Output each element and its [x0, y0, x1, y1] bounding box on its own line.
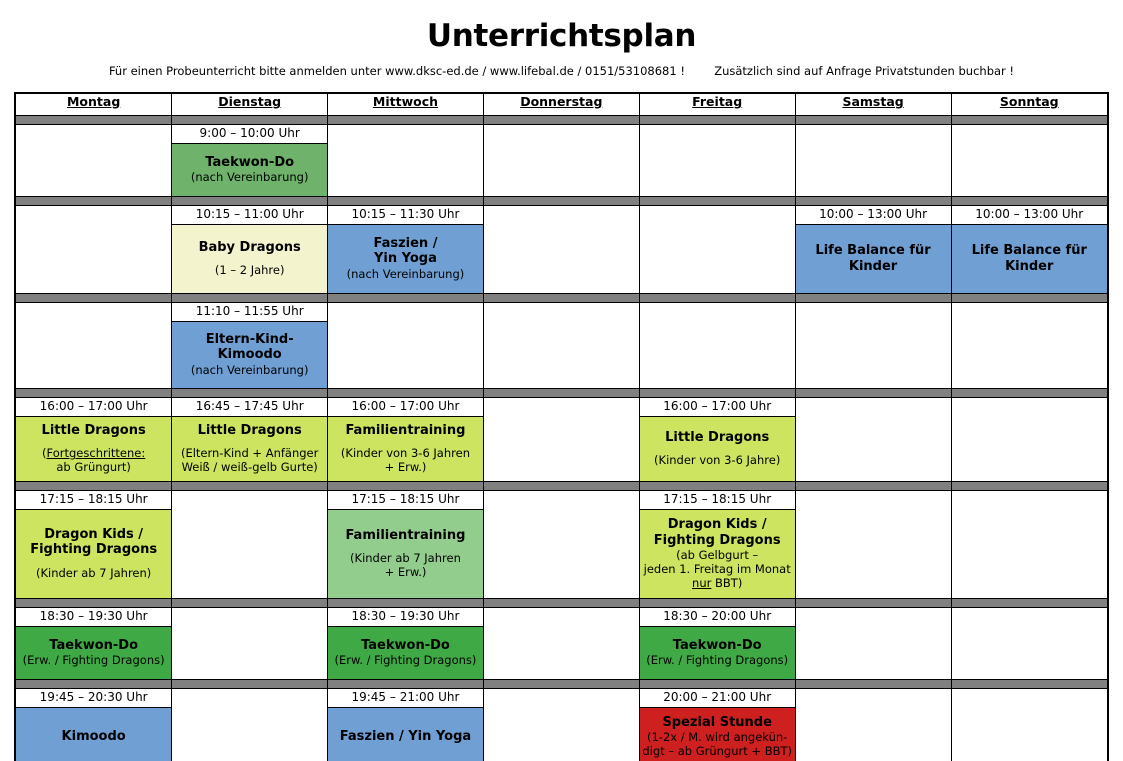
empty-slot-cell — [483, 303, 639, 389]
class-slot[interactable]: 17:15 – 18:15 UhrFamilientraining(Kinder… — [328, 491, 483, 598]
class-time: 19:45 – 20:30 Uhr — [16, 689, 171, 708]
class-slot[interactable]: 17:15 – 18:15 UhrDragon Kids /Fighting D… — [16, 491, 171, 598]
class-time: 20:00 – 21:00 Uhr — [640, 689, 795, 708]
class-slot-cell[interactable]: 17:15 – 18:15 UhrDragon Kids /Fighting D… — [639, 491, 795, 599]
empty-slot — [484, 303, 639, 388]
class-name-line: Eltern-Kind- — [206, 332, 294, 348]
class-note-line: + Erw.) — [341, 461, 470, 475]
class-note: (Erw. / Fighting Dragons) — [334, 654, 476, 668]
class-slot-cell[interactable]: 10:15 – 11:30 UhrFaszien /Yin Yoga(nach … — [328, 206, 484, 294]
class-note: (1-2x / M. wird angekün-digt – ab Grüngu… — [642, 731, 792, 759]
row-separator-cell — [328, 599, 484, 608]
row-separator-cell — [795, 197, 951, 206]
empty-slot — [640, 206, 795, 293]
class-slot-cell[interactable]: 10:00 – 13:00 UhrLife Balance fürKinder — [795, 206, 951, 294]
schedule-row: 18:30 – 19:30 UhrTaekwon-Do(Erw. / Fight… — [16, 608, 1107, 680]
class-name-line: Fighting Dragons — [30, 542, 157, 558]
underlined-text: Fortgeschrittene: — [47, 446, 146, 460]
class-title: Dragon Kids /Fighting Dragons — [654, 517, 781, 548]
row-separator-cell — [483, 116, 639, 125]
row-separator-cell — [795, 116, 951, 125]
class-body: Life Balance fürKinder — [796, 225, 951, 293]
row-separator-cell — [172, 294, 328, 303]
row-separator-cell — [328, 389, 484, 398]
empty-slot-cell — [483, 689, 639, 761]
day-header-label: Freitag — [692, 94, 742, 109]
day-header-montag: Montag — [16, 94, 172, 116]
row-separator-cell — [639, 116, 795, 125]
row-separator-cell — [483, 294, 639, 303]
class-name-line: Taekwon-Do — [673, 638, 762, 654]
empty-slot — [328, 303, 483, 388]
class-name-line: Dragon Kids / — [654, 517, 781, 533]
row-separator-cell — [483, 482, 639, 491]
row-separator-cell — [483, 599, 639, 608]
class-body: Little Dragons(Kinder von 3-6 Jahre) — [640, 417, 795, 481]
row-separator-cell — [951, 599, 1107, 608]
class-name-line: Little Dragons — [198, 423, 302, 439]
row-separator-cell — [639, 680, 795, 689]
class-note: (Kinder ab 7 Jahren) — [36, 567, 151, 581]
class-time: 16:00 – 17:00 Uhr — [640, 398, 795, 417]
class-note: (Erw. / Fighting Dragons) — [23, 654, 165, 668]
unterrichtsplan-page: Unterrichtsplan Für einen Probeunterrich… — [0, 18, 1123, 761]
row-separator-cell — [795, 599, 951, 608]
day-header-label: Mittwoch — [373, 94, 438, 109]
class-note: (Fortgeschrittene:ab Grüngurt) — [42, 447, 145, 475]
schedule-row: 16:00 – 17:00 UhrLittle Dragons(Fortgesc… — [16, 398, 1107, 482]
class-slot-cell[interactable]: 20:00 – 21:00 UhrSpezial Stunde(1-2x / M… — [639, 689, 795, 761]
class-title: Taekwon-Do — [205, 155, 294, 171]
empty-slot-cell — [795, 491, 951, 599]
class-time: 17:15 – 18:15 Uhr — [328, 491, 483, 510]
empty-slot-cell — [951, 398, 1107, 482]
row-separator-cell — [16, 116, 172, 125]
class-note-line: jeden 1. Freitag im Monat — [644, 563, 791, 577]
row-separator-cell — [483, 680, 639, 689]
class-time: 16:00 – 17:00 Uhr — [328, 398, 483, 417]
row-separator-cell — [328, 197, 484, 206]
class-name-line: Dragon Kids / — [30, 527, 157, 543]
class-title: Baby Dragons — [199, 240, 301, 256]
class-name-line: Taekwon-Do — [361, 638, 450, 654]
class-slot[interactable]: 19:45 – 21:00 UhrFaszien / Yin Yoga — [328, 689, 483, 761]
row-separator-cell — [16, 482, 172, 491]
empty-slot-cell — [795, 303, 951, 389]
class-slot[interactable]: 18:30 – 19:30 UhrTaekwon-Do(Erw. / Fight… — [16, 608, 171, 679]
empty-slot — [640, 303, 795, 388]
class-name-line: Life Balance für — [815, 243, 930, 259]
class-body: Little Dragons(Fortgeschrittene:ab Grüng… — [16, 417, 171, 481]
row-separator-cell — [172, 197, 328, 206]
class-name-line: Little Dragons — [42, 423, 146, 439]
empty-slot — [952, 125, 1107, 196]
class-body: Taekwon-Do(Erw. / Fighting Dragons) — [640, 627, 795, 679]
class-note-line: (Erw. / Fighting Dragons) — [646, 654, 788, 668]
class-time: 10:00 – 13:00 Uhr — [952, 206, 1107, 225]
class-time: 16:00 – 17:00 Uhr — [16, 398, 171, 417]
class-note-line: (Erw. / Fighting Dragons) — [334, 654, 476, 668]
row-separator-cell — [951, 482, 1107, 491]
class-time: 10:00 – 13:00 Uhr — [796, 206, 951, 225]
class-title: Familientraining — [345, 528, 465, 544]
class-slot[interactable]: 17:15 – 18:15 UhrDragon Kids /Fighting D… — [640, 491, 795, 598]
day-header-sonntag: Sonntag — [951, 94, 1107, 116]
class-body: Familientraining(Kinder von 3-6 Jahren+ … — [328, 417, 483, 481]
class-name-line: Fighting Dragons — [654, 533, 781, 549]
row-separator-cell — [16, 389, 172, 398]
class-title: Taekwon-Do — [361, 638, 450, 654]
class-slot-cell[interactable]: 18:30 – 20:00 UhrTaekwon-Do(Erw. / Fight… — [639, 608, 795, 680]
empty-slot-cell — [639, 125, 795, 197]
class-slot-cell[interactable]: 16:45 – 17:45 UhrLittle Dragons(Eltern-K… — [172, 398, 328, 482]
class-body: Kimoodo — [16, 708, 171, 761]
empty-slot — [640, 125, 795, 196]
empty-slot — [952, 303, 1107, 388]
class-title: Familientraining — [345, 423, 465, 439]
row-separator-cell — [795, 680, 951, 689]
schedule-row: 17:15 – 18:15 UhrDragon Kids /Fighting D… — [16, 491, 1107, 599]
class-title: Life Balance fürKinder — [815, 243, 930, 274]
empty-slot — [796, 689, 951, 761]
class-slot[interactable]: 10:15 – 11:00 UhrBaby Dragons(1 – 2 Jahr… — [172, 206, 327, 293]
empty-slot-cell — [951, 491, 1107, 599]
empty-slot — [796, 125, 951, 196]
row-separator-cell — [639, 482, 795, 491]
class-note-line: nur BBT) — [644, 577, 791, 591]
class-slot-cell[interactable]: 17:15 – 18:15 UhrDragon Kids /Fighting D… — [16, 491, 172, 599]
row-separator-cell — [328, 116, 484, 125]
schedule-table-wrapper: MontagDienstagMittwochDonnerstagFreitagS… — [14, 92, 1109, 761]
row-separator — [16, 482, 1107, 491]
class-slot[interactable]: 10:00 – 13:00 UhrLife Balance fürKinder — [796, 206, 951, 293]
class-note: (Eltern-Kind + AnfängerWeiß / weiß-gelb … — [181, 447, 318, 475]
row-separator-cell — [328, 482, 484, 491]
empty-slot — [16, 125, 171, 196]
empty-slot-cell — [639, 303, 795, 389]
row-separator-cell — [16, 599, 172, 608]
empty-slot-cell — [951, 125, 1107, 197]
row-separator-cell — [16, 680, 172, 689]
class-title: Kimoodo — [62, 729, 126, 745]
row-separator-cell — [639, 389, 795, 398]
class-time: 16:45 – 17:45 Uhr — [172, 398, 327, 417]
empty-slot — [484, 125, 639, 196]
class-title: Taekwon-Do — [673, 638, 762, 654]
class-name-line: Kinder — [815, 259, 930, 275]
class-body: Eltern-Kind-Kimoodo(nach Vereinbarung) — [172, 322, 327, 388]
row-separator — [16, 680, 1107, 689]
class-note-line: (1 – 2 Jahre) — [215, 264, 285, 278]
day-header-mittwoch: Mittwoch — [328, 94, 484, 116]
class-slot[interactable]: 16:45 – 17:45 UhrLittle Dragons(Eltern-K… — [172, 398, 327, 481]
class-slot-cell[interactable]: 19:45 – 20:30 UhrKimoodo — [16, 689, 172, 761]
underlined-text: nur — [692, 576, 711, 590]
class-note-line: (Kinder von 3-6 Jahre) — [654, 454, 780, 468]
row-separator-cell — [328, 294, 484, 303]
class-name-line: Kimoodo — [62, 729, 126, 745]
row-separator-cell — [483, 197, 639, 206]
empty-slot — [484, 689, 639, 761]
row-separator-cell — [951, 116, 1107, 125]
empty-slot-cell — [795, 689, 951, 761]
class-title: Faszien / Yin Yoga — [340, 729, 471, 745]
class-name-line: Faszien / — [373, 236, 437, 252]
row-separator — [16, 197, 1107, 206]
class-time: 10:15 – 11:00 Uhr — [172, 206, 327, 225]
class-body: Spezial Stunde(1-2x / M. wird angekün-di… — [640, 708, 795, 761]
class-note-line: + Erw.) — [350, 566, 461, 580]
empty-slot — [16, 303, 171, 388]
empty-slot-cell — [172, 689, 328, 761]
row-separator-cell — [639, 197, 795, 206]
empty-slot-cell — [795, 398, 951, 482]
row-separator-cell — [16, 197, 172, 206]
class-time: 9:00 – 10:00 Uhr — [172, 125, 327, 144]
schedule-row: 19:45 – 20:30 UhrKimoodo19:45 – 21:00 Uh… — [16, 689, 1107, 761]
class-slot[interactable]: 20:00 – 21:00 UhrSpezial Stunde(1-2x / M… — [640, 689, 795, 761]
class-note-line: (nach Vereinbarung) — [347, 268, 465, 282]
empty-slot — [484, 491, 639, 598]
class-note-line: (Eltern-Kind + Anfänger — [181, 447, 318, 461]
class-name-line: Familientraining — [345, 423, 465, 439]
class-title: Little Dragons — [198, 423, 302, 439]
day-header-row: MontagDienstagMittwochDonnerstagFreitagS… — [16, 94, 1107, 116]
class-time: 19:45 – 21:00 Uhr — [328, 689, 483, 708]
empty-slot-cell — [795, 125, 951, 197]
class-slot[interactable]: 11:10 – 11:55 UhrEltern-Kind-Kimoodo(nac… — [172, 303, 327, 388]
row-separator-cell — [951, 197, 1107, 206]
class-time: 18:30 – 19:30 Uhr — [16, 608, 171, 627]
empty-slot — [172, 491, 327, 598]
class-slot[interactable]: 16:00 – 17:00 UhrLittle Dragons(Fortgesc… — [16, 398, 171, 481]
class-body: Taekwon-Do(Erw. / Fighting Dragons) — [16, 627, 171, 679]
row-separator-cell — [795, 389, 951, 398]
row-separator-cell — [795, 294, 951, 303]
class-slot-cell[interactable]: 9:00 – 10:00 UhrTaekwon-Do(nach Vereinba… — [172, 125, 328, 197]
day-header-label: Sonntag — [1000, 94, 1059, 109]
empty-slot-cell — [16, 125, 172, 197]
empty-slot — [172, 608, 327, 679]
day-header-donnerstag: Donnerstag — [483, 94, 639, 116]
day-header-dienstag: Dienstag — [172, 94, 328, 116]
empty-slot-cell — [951, 608, 1107, 680]
class-title: Little Dragons — [665, 430, 769, 446]
empty-slot — [796, 303, 951, 388]
empty-slot-cell — [328, 303, 484, 389]
empty-slot — [16, 206, 171, 293]
row-separator-cell — [172, 482, 328, 491]
row-separator-cell — [328, 680, 484, 689]
class-body: Dragon Kids /Fighting Dragons(ab Gelbgur… — [640, 510, 795, 598]
class-note: (Kinder ab 7 Jahren+ Erw.) — [350, 552, 461, 580]
empty-slot-cell — [951, 689, 1107, 761]
empty-slot-cell — [795, 608, 951, 680]
day-header-label: Dienstag — [218, 94, 281, 109]
class-slot-cell[interactable]: 10:00 – 13:00 UhrLife Balance fürKinder — [951, 206, 1107, 294]
class-note-line: (ab Gelbgurt – — [644, 549, 791, 563]
schedule-row: 9:00 – 10:00 UhrTaekwon-Do(nach Vereinba… — [16, 125, 1107, 197]
class-note: (ab Gelbgurt –jeden 1. Freitag im Monatn… — [644, 549, 791, 590]
class-time: 10:15 – 11:30 Uhr — [328, 206, 483, 225]
empty-slot — [796, 491, 951, 598]
class-note: (1 – 2 Jahre) — [215, 264, 285, 278]
class-note: (Kinder von 3-6 Jahren+ Erw.) — [341, 447, 470, 475]
class-name-line: Taekwon-Do — [205, 155, 294, 171]
empty-slot — [952, 689, 1107, 761]
class-slot[interactable]: 16:00 – 17:00 UhrLittle Dragons(Kinder v… — [640, 398, 795, 481]
empty-slot-cell — [483, 398, 639, 482]
empty-slot-cell — [16, 206, 172, 294]
class-note-line: (Fortgeschrittene: — [42, 447, 145, 461]
class-title: Life Balance fürKinder — [972, 243, 1087, 274]
class-name-line: Kinder — [972, 259, 1087, 275]
class-note-line: ab Grüngurt) — [42, 461, 145, 475]
class-note-line: (Kinder von 3-6 Jahren — [341, 447, 470, 461]
class-slot-cell[interactable]: 16:00 – 17:00 UhrLittle Dragons(Fortgesc… — [16, 398, 172, 482]
class-name-line: Faszien / Yin Yoga — [340, 729, 471, 745]
class-name-line: Familientraining — [345, 528, 465, 544]
class-slot-cell[interactable]: 19:45 – 21:00 UhrFaszien / Yin Yoga — [328, 689, 484, 761]
class-note: (nach Vereinbarung) — [347, 268, 465, 282]
page-subtitle: Für einen Probeunterricht bitte anmelden… — [0, 65, 1123, 79]
class-slot-cell[interactable]: 11:10 – 11:55 UhrEltern-Kind-Kimoodo(nac… — [172, 303, 328, 389]
row-separator — [16, 389, 1107, 398]
class-name-line: Taekwon-Do — [49, 638, 138, 654]
empty-slot — [796, 608, 951, 679]
class-name-line: Spezial Stunde — [662, 715, 771, 731]
class-slot[interactable]: 10:00 – 13:00 UhrLife Balance fürKinder — [952, 206, 1107, 293]
day-header-label: Montag — [67, 94, 120, 109]
class-slot-cell[interactable]: 18:30 – 19:30 UhrTaekwon-Do(Erw. / Fight… — [16, 608, 172, 680]
schedule-row: 10:15 – 11:00 UhrBaby Dragons(1 – 2 Jahr… — [16, 206, 1107, 294]
class-note: (nach Vereinbarung) — [191, 364, 309, 378]
class-title: Faszien /Yin Yoga — [373, 236, 437, 267]
class-name-line: Baby Dragons — [199, 240, 301, 256]
class-slot[interactable]: 9:00 – 10:00 UhrTaekwon-Do(nach Vereinba… — [172, 125, 327, 196]
class-time: 11:10 – 11:55 Uhr — [172, 303, 327, 322]
empty-slot-cell — [483, 125, 639, 197]
class-note-line: (Kinder ab 7 Jahren) — [36, 567, 151, 581]
class-slot[interactable]: 18:30 – 19:30 UhrTaekwon-Do(Erw. / Fight… — [328, 608, 483, 679]
class-body: Familientraining(Kinder ab 7 Jahren+ Erw… — [328, 510, 483, 598]
row-separator-cell — [951, 294, 1107, 303]
empty-slot — [952, 608, 1107, 679]
empty-slot-cell — [172, 491, 328, 599]
day-header-samstag: Samstag — [795, 94, 951, 116]
class-name-line: Kimoodo — [206, 347, 294, 363]
class-title: Dragon Kids /Fighting Dragons — [30, 527, 157, 558]
class-body: Faszien / Yin Yoga — [328, 708, 483, 761]
schedule-table: MontagDienstagMittwochDonnerstagFreitagS… — [16, 94, 1107, 761]
class-body: Little Dragons(Eltern-Kind + AnfängerWei… — [172, 417, 327, 481]
row-separator-cell — [172, 389, 328, 398]
empty-slot — [484, 206, 639, 293]
class-slot[interactable]: 19:45 – 20:30 UhrKimoodo — [16, 689, 171, 761]
row-separator — [16, 294, 1107, 303]
class-title: Little Dragons — [42, 423, 146, 439]
class-note: (Erw. / Fighting Dragons) — [646, 654, 788, 668]
class-title: Spezial Stunde — [662, 715, 771, 731]
page-title: Unterrichtsplan — [0, 18, 1123, 55]
empty-slot — [952, 398, 1107, 481]
row-separator-cell — [639, 599, 795, 608]
row-separator-cell — [172, 599, 328, 608]
row-separator-cell — [795, 482, 951, 491]
class-slot-cell[interactable]: 18:30 – 19:30 UhrTaekwon-Do(Erw. / Fight… — [328, 608, 484, 680]
class-note-line: digt – ab Grüngurt + BBT) — [642, 745, 792, 759]
class-name-line: Yin Yoga — [373, 251, 437, 267]
class-slot-cell[interactable]: 10:15 – 11:00 UhrBaby Dragons(1 – 2 Jahr… — [172, 206, 328, 294]
class-note: (Kinder von 3-6 Jahre) — [654, 454, 780, 468]
empty-slot-cell — [328, 125, 484, 197]
row-separator-cell — [172, 116, 328, 125]
class-slot-cell[interactable]: 16:00 – 17:00 UhrFamilientraining(Kinder… — [328, 398, 484, 482]
empty-slot-cell — [639, 206, 795, 294]
class-note-line: Weiß / weiß-gelb Gurte) — [181, 461, 318, 475]
class-slot-cell[interactable]: 17:15 – 18:15 UhrFamilientraining(Kinder… — [328, 491, 484, 599]
class-note: (nach Vereinbarung) — [191, 171, 309, 185]
class-note-line: (1-2x / M. wird angekün- — [642, 731, 792, 745]
class-time: 18:30 – 20:00 Uhr — [640, 608, 795, 627]
empty-slot-cell — [172, 608, 328, 680]
empty-slot-cell — [951, 303, 1107, 389]
schedule-row: 11:10 – 11:55 UhrEltern-Kind-Kimoodo(nac… — [16, 303, 1107, 389]
class-body: Life Balance fürKinder — [952, 225, 1107, 293]
class-time: 18:30 – 19:30 Uhr — [328, 608, 483, 627]
day-header-label: Samstag — [842, 94, 903, 109]
class-slot[interactable]: 18:30 – 20:00 UhrTaekwon-Do(Erw. / Fight… — [640, 608, 795, 679]
empty-slot — [952, 491, 1107, 598]
day-header-freitag: Freitag — [639, 94, 795, 116]
row-separator-cell — [483, 389, 639, 398]
class-note-line: (nach Vereinbarung) — [191, 364, 309, 378]
empty-slot-cell — [483, 608, 639, 680]
row-separator-cell — [16, 294, 172, 303]
class-name-line: Life Balance für — [972, 243, 1087, 259]
row-separator-cell — [951, 389, 1107, 398]
empty-slot — [328, 125, 483, 196]
empty-slot-cell — [16, 303, 172, 389]
class-slot[interactable]: 10:15 – 11:30 UhrFaszien /Yin Yoga(nach … — [328, 206, 483, 293]
class-note-line: (nach Vereinbarung) — [191, 171, 309, 185]
row-separator-cell — [172, 680, 328, 689]
class-slot[interactable]: 16:00 – 17:00 UhrFamilientraining(Kinder… — [328, 398, 483, 481]
day-header-label: Donnerstag — [520, 94, 602, 109]
class-note-line: (Erw. / Fighting Dragons) — [23, 654, 165, 668]
class-body: Dragon Kids /Fighting Dragons(Kinder ab … — [16, 510, 171, 598]
class-body: Taekwon-Do(nach Vereinbarung) — [172, 144, 327, 196]
class-note-line: (Kinder ab 7 Jahren — [350, 552, 461, 566]
class-name-line: Little Dragons — [665, 430, 769, 446]
class-title: Taekwon-Do — [49, 638, 138, 654]
empty-slot — [796, 398, 951, 481]
empty-slot — [484, 608, 639, 679]
class-title: Eltern-Kind-Kimoodo — [206, 332, 294, 363]
class-slot-cell[interactable]: 16:00 – 17:00 UhrLittle Dragons(Kinder v… — [639, 398, 795, 482]
empty-slot — [172, 689, 327, 761]
row-separator-cell — [951, 680, 1107, 689]
empty-slot — [484, 398, 639, 481]
empty-slot-cell — [483, 491, 639, 599]
class-body: Faszien /Yin Yoga(nach Vereinbarung) — [328, 225, 483, 293]
class-time: 17:15 – 18:15 Uhr — [16, 491, 171, 510]
row-separator — [16, 116, 1107, 125]
class-body: Taekwon-Do(Erw. / Fighting Dragons) — [328, 627, 483, 679]
row-separator-cell — [639, 294, 795, 303]
empty-slot-cell — [483, 206, 639, 294]
class-time: 17:15 – 18:15 Uhr — [640, 491, 795, 510]
